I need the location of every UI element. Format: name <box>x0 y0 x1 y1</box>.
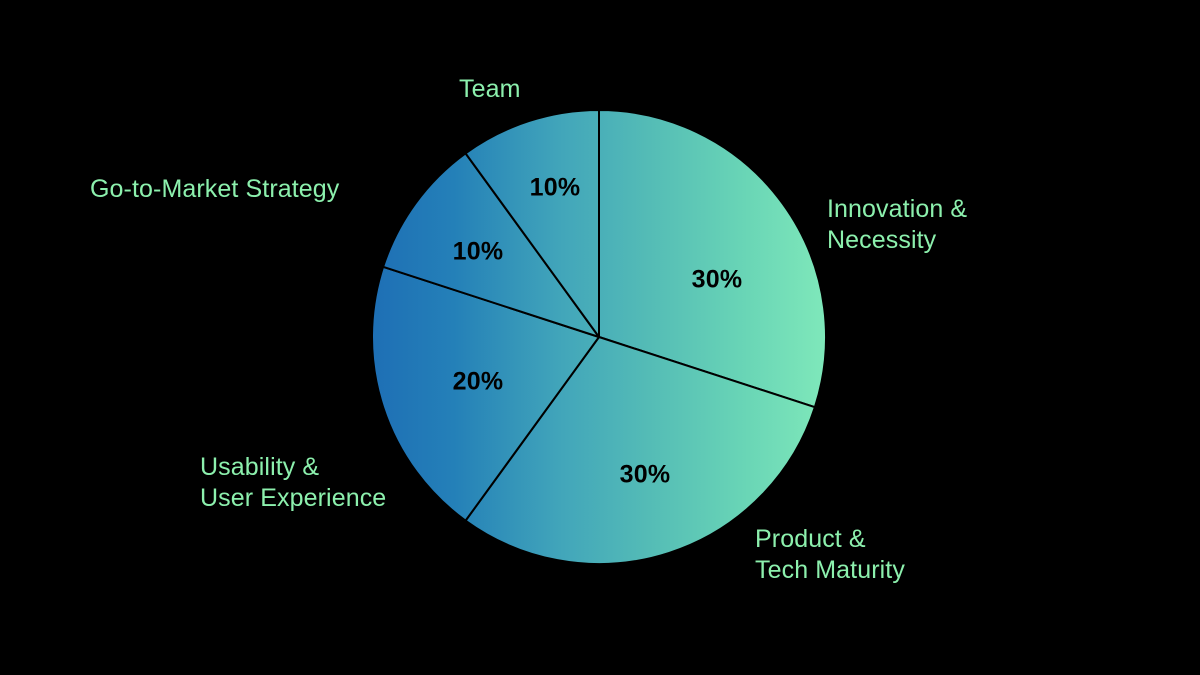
slice-label-usability-user-experience: Usability & User Experience <box>200 452 386 513</box>
slice-percentage-label: 30% <box>692 266 743 295</box>
slice-percentage-label: 20% <box>453 368 504 397</box>
slice-label-product-tech-maturity: Product & Tech Maturity <box>755 524 905 585</box>
chart-canvas: Team Go-to-Market Strategy Innovation & … <box>0 0 1200 675</box>
slice-label-innovation-necessity: Innovation & Necessity <box>827 194 967 255</box>
slice-label-go-to-market-strategy: Go-to-Market Strategy <box>90 174 339 205</box>
slice-percentage-label: 10% <box>530 174 581 203</box>
slice-percentage-label: 30% <box>620 461 671 490</box>
pie-slice-group <box>372 110 826 564</box>
pie-chart <box>0 0 1200 675</box>
slice-percentage-label: 10% <box>453 238 504 267</box>
slice-label-team: Team <box>459 74 521 105</box>
